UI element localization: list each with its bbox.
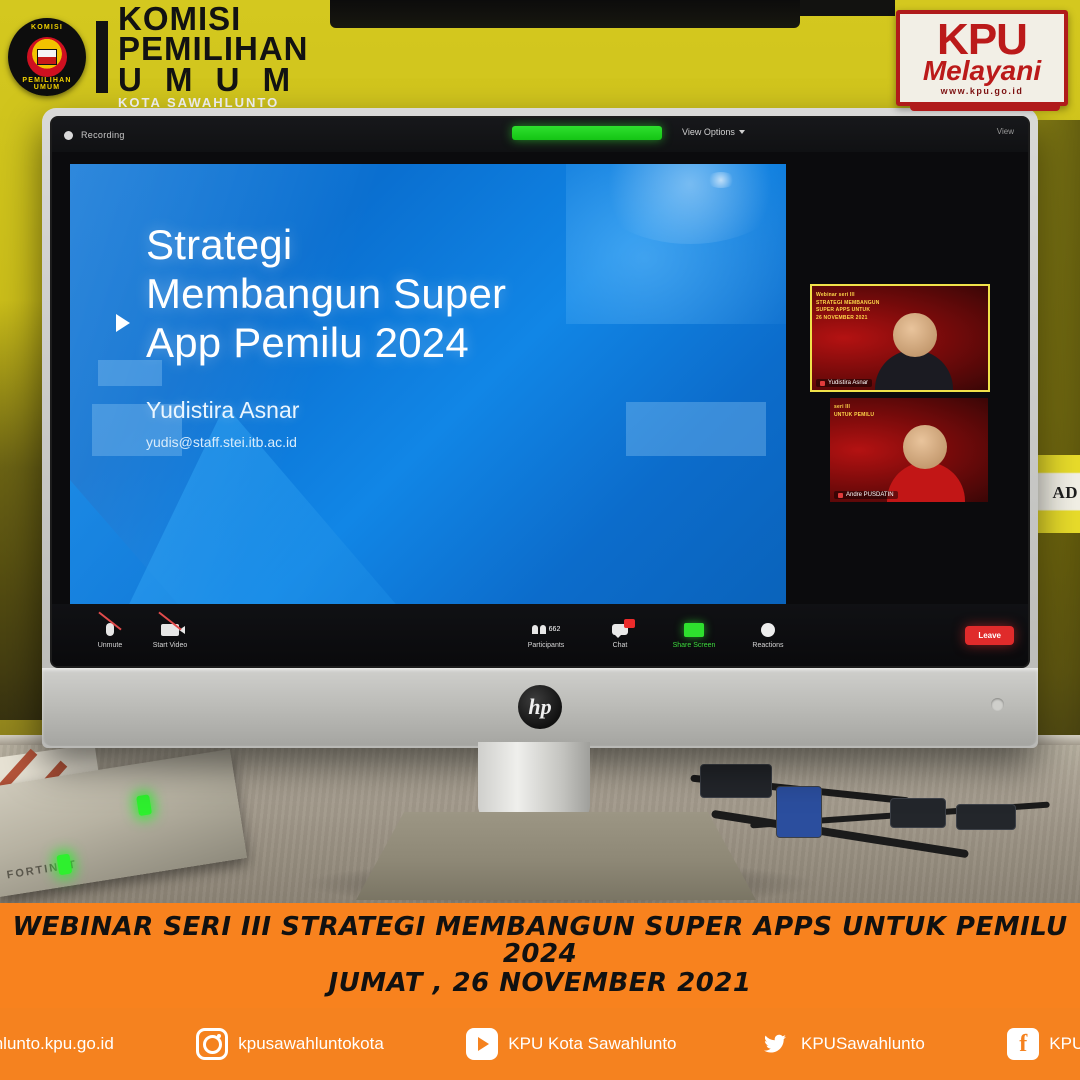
monitor-screen: Recording View Options View <box>50 116 1030 668</box>
wall-upper-dark-panel <box>330 0 800 28</box>
shared-screen-slide: Strategi Membangun Super App Pemilu 2024… <box>70 164 786 604</box>
kpu-wordmark-line-4: KOTA SAWAHLUNTO <box>118 97 309 109</box>
footer-item-facebook[interactable]: f KPU Kota <box>1007 1028 1080 1060</box>
status-led <box>136 794 152 816</box>
kpu-logo: KOMISI PEMILIHAN UMUM KOMISI PEMILIHAN U… <box>8 4 309 109</box>
leave-meeting-button[interactable]: Leave <box>965 626 1014 645</box>
footer-item-youtube[interactable]: KPU Kota Sawahlunto <box>466 1028 676 1060</box>
monitor-bottom-bezel: hp <box>42 668 1038 746</box>
youtube-icon <box>466 1028 498 1060</box>
zoom-topbar-right[interactable]: View <box>997 127 1014 136</box>
status-led <box>56 854 72 876</box>
youtube-label: KPU Kota Sawahlunto <box>508 1034 676 1054</box>
participant-face <box>893 313 937 357</box>
overlay-sub: STRATEGI MEMBANGUN SUPER APPS UNTUK <box>816 300 882 315</box>
reactions-button[interactable]: Reactions <box>738 622 798 649</box>
website-label: wahlunto.kpu.go.id <box>0 1034 114 1054</box>
garuda-emblem-icon <box>27 37 67 77</box>
monitor-stand-neck <box>478 742 590 820</box>
cable-bundle <box>690 760 1080 870</box>
event-banner-title: WEBINAR SERI III STRATEGI MEMBANGUN SUPE… <box>0 914 1080 969</box>
chat-button[interactable]: Chat <box>590 622 650 649</box>
participant-name-badge: Andre PUSDATIN <box>834 491 898 499</box>
instagram-label: kpusawahluntokota <box>238 1034 384 1054</box>
reactions-icon <box>757 622 779 638</box>
mic-muted-icon <box>838 493 843 498</box>
slide-email: yudis@staff.stei.itb.ac.id <box>146 434 746 450</box>
twitter-label: KPUSawahlunto <box>801 1034 925 1054</box>
screen-share-indicator <box>512 126 662 140</box>
participants-count: 662 <box>549 626 561 633</box>
screenshot-canvas: AD FORTINET Recording <box>0 0 1080 1080</box>
share-screen-button-label: Share Screen <box>673 642 716 649</box>
recording-icon <box>64 131 73 140</box>
overlay-title: Webinar seri III <box>816 292 882 300</box>
seal-ring-top-text: KOMISI <box>8 24 86 31</box>
slide-text-block: Strategi Membangun Super App Pemilu 2024… <box>146 220 746 450</box>
hp-logo-icon: hp <box>518 685 562 729</box>
mute-button-label: Unmute <box>98 642 123 649</box>
recording-label: Recording <box>81 130 125 140</box>
camera-muted-icon <box>159 622 181 638</box>
kpu-seal-icon: KOMISI PEMILIHAN UMUM <box>8 18 86 96</box>
footer-item-twitter[interactable]: KPUSawahlunto <box>759 1028 925 1060</box>
facebook-label: KPU Kota <box>1049 1034 1080 1054</box>
monitor-frame: Recording View Options View <box>42 108 1038 748</box>
slide-title-line-2: Membangun Super <box>146 269 746 318</box>
participant-tile-active[interactable]: Webinar seri III STRATEGI MEMBANGUN SUPE… <box>812 286 988 390</box>
chevron-down-icon <box>739 130 745 134</box>
power-button[interactable] <box>991 698 1004 711</box>
kpu-wordmark: KOMISI PEMILIHAN U M U M KOTA SAWAHLUNTO <box>118 4 309 109</box>
share-screen-icon <box>683 622 705 638</box>
participants-button-label: Participants <box>528 642 565 649</box>
view-menu-label: View <box>997 127 1014 136</box>
slide-title-line-3: App Pemilu 2024 <box>146 318 746 367</box>
reactions-button-label: Reactions <box>752 642 783 649</box>
zoom-meeting-window: Recording View Options View <box>52 118 1028 666</box>
participants-button[interactable]: 662 Participants <box>516 622 576 649</box>
participant-tile[interactable]: seri III UNTUK PEMILU Andre PUSDATIN <box>830 398 988 502</box>
screen-glare <box>706 172 736 188</box>
slide-author: Yudistira Asnar <box>146 397 746 424</box>
kpu-melayani-logo: KPU Melayani www.kpu.go.id <box>896 10 1068 106</box>
participants-icon: 662 <box>535 622 557 638</box>
participant-name: Andre PUSDATIN <box>846 492 894 498</box>
event-banner-date: JUMAT , 26 NOVEMBER 2021 <box>329 970 752 997</box>
overlay-sub: UNTUK PEMILU <box>834 412 900 420</box>
seal-ring-bottom-text: PEMILIHAN UMUM <box>8 77 86 91</box>
participant-name: Yudistira Asnar <box>828 380 868 386</box>
twitter-icon <box>759 1028 791 1060</box>
share-screen-button[interactable]: Share Screen <box>664 622 724 649</box>
mic-muted-icon <box>820 381 825 386</box>
footer-item-instagram[interactable]: kpusawahluntokota <box>196 1028 384 1060</box>
melayani-website: www.kpu.go.id <box>941 86 1024 96</box>
participant-name-badge: Yudistira Asnar <box>816 379 872 387</box>
start-video-button-label: Start Video <box>153 642 188 649</box>
view-options-label: View Options <box>682 127 735 137</box>
overlay-date: 26 NOVEMBER 2021 <box>816 315 882 323</box>
chat-button-label: Chat <box>613 642 628 649</box>
play-triangle-icon <box>116 314 130 332</box>
footer-item-website[interactable]: wahlunto.kpu.go.id <box>6 1034 114 1054</box>
facebook-icon: f <box>1007 1028 1039 1060</box>
overlay-title: seri III <box>834 404 900 412</box>
mute-button[interactable]: Unmute <box>80 622 140 649</box>
participant-face <box>903 425 947 469</box>
melayani-line-2: Melayani <box>923 58 1041 85</box>
microphone-muted-icon <box>99 622 121 638</box>
video-overlay-banner: Webinar seri III STRATEGI MEMBANGUN SUPE… <box>816 292 882 338</box>
video-overlay-banner: seri III UNTUK PEMILU <box>834 404 900 450</box>
wall-upper-dark-panel-2 <box>800 0 895 16</box>
start-video-button[interactable]: Start Video <box>140 622 200 649</box>
monitor-stand-base <box>356 812 756 900</box>
participant-video-strip: Webinar seri III STRATEGI MEMBANGUN SUPE… <box>812 286 988 516</box>
instagram-icon <box>196 1028 228 1060</box>
social-footer: wahlunto.kpu.go.id kpusawahluntokota KPU… <box>0 1008 1080 1080</box>
kpu-divider-bar <box>96 21 108 93</box>
zoom-toolbar: Unmute Start Video 662 <box>52 604 1028 666</box>
event-banner: WEBINAR SERI III STRATEGI MEMBANGUN SUPE… <box>0 903 1080 1008</box>
view-options-button[interactable]: View Options <box>682 127 745 137</box>
chat-icon <box>609 622 631 638</box>
kpu-wordmark-line-3: U M U M <box>118 65 309 95</box>
wall-sign-text: AD <box>1052 483 1078 503</box>
